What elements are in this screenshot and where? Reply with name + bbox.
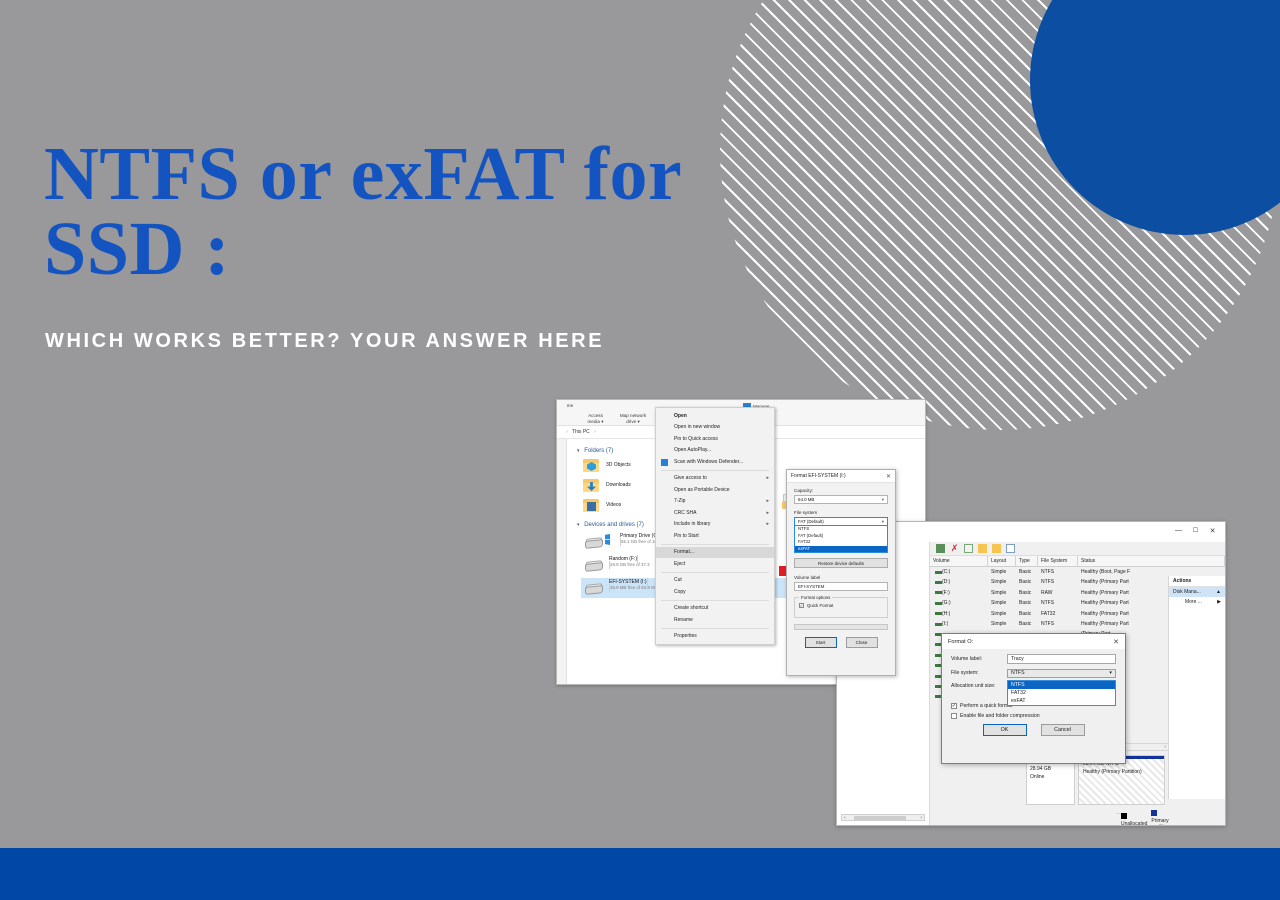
cell-type: Basic (1016, 609, 1038, 619)
column-type[interactable]: Type (1016, 556, 1038, 567)
menu-item-scan-with-windows-defender[interactable]: Scan with Windows Defender... (656, 456, 774, 468)
cell-file-system: NTFS (1038, 619, 1078, 629)
volume-table-header: Volume Layout Type File System Status (930, 556, 1225, 567)
filesystem-label: File system (794, 510, 888, 515)
folder-videos-icon (583, 498, 600, 512)
cancel-button[interactable]: Cancel (1041, 724, 1085, 736)
format-efi-dialog[interactable]: Format EFI-SYSTEM (I:) ✕ Capacity: 64.0 … (786, 469, 896, 676)
chevron-right-icon-2: › (594, 429, 596, 435)
menu-item-pin-to-start[interactable]: Pin to Start (656, 530, 774, 542)
menu-label: Open as Portable Device (674, 487, 730, 493)
context-menu[interactable]: Open Open in new window Pin to Quick acc… (655, 407, 775, 645)
option-fat32[interactable]: FAT32 (1008, 689, 1115, 697)
delete-icon[interactable]: ✗ (950, 544, 959, 553)
filesystem-value: NTFS (1011, 670, 1025, 676)
cell-layout: Simple (988, 609, 1016, 619)
menu-label: Pin to Quick access (674, 436, 718, 442)
menu-item-open-in-new-window[interactable]: Open in new window (656, 422, 774, 434)
cell-volume: (C:) (930, 567, 988, 577)
cell-volume-label: (C:) (942, 567, 950, 577)
quick-format-checkbox[interactable]: ✓ Quick Format (799, 603, 883, 608)
disk-legend: Unallocated Primary partition (1116, 813, 1126, 825)
column-status[interactable]: Status (1078, 556, 1225, 567)
menu-label: Include in library (674, 521, 710, 527)
breadcrumb[interactable]: This PC (572, 429, 590, 435)
menu-label: Create shortcut (674, 605, 708, 611)
legend-item-unallocated: Unallocated (1121, 813, 1147, 827)
cell-layout: Simple (988, 598, 1016, 608)
ribbon-label-2: Map network drive ▾ (620, 413, 646, 424)
compression-label: Enable file and folder compression (960, 713, 1040, 719)
disk-size: 28.94 GB (1030, 766, 1071, 773)
ok-button[interactable]: OK (983, 724, 1027, 736)
cell-file-system: NTFS (1038, 598, 1078, 608)
volume-label-input[interactable]: Tracy (1007, 654, 1116, 664)
decorative-circle (1030, 0, 1280, 235)
folder-3d-objects-icon (583, 458, 600, 472)
legend-key-primary (1151, 810, 1157, 816)
format-o-dialog[interactable]: Format O: ✕ Volume label: Tracy File sys… (941, 633, 1126, 764)
chevron-right-icon: ▸ (766, 521, 769, 527)
devices-header-label: Devices and drives (7) (584, 522, 644, 528)
drive-i-icon (583, 582, 605, 597)
checkbox-icon-unchecked (951, 713, 957, 719)
cell-file-system: NTFS (1038, 577, 1078, 587)
menu-separator (661, 628, 769, 629)
filesystem-label: File system: (951, 670, 1007, 676)
volume-label-label: Volume label: (951, 656, 1007, 662)
menu-item-7-zip[interactable]: 7-Zip ▸ (656, 496, 774, 508)
folder-label: 3D Objects (606, 462, 631, 468)
chevron-right-icon: ▸ (766, 498, 769, 504)
cell-layout: Simple (988, 567, 1016, 577)
menu-label: Rename (674, 617, 693, 623)
filesystem-value: FAT (Default) (798, 519, 824, 524)
dialog-title: Format EFI-SYSTEM (I:) (791, 473, 846, 479)
filesystem-select[interactable]: FAT (Default) ▾ (794, 517, 888, 526)
menu-item-properties[interactable]: Properties (656, 631, 774, 643)
cell-type: Basic (1016, 567, 1038, 577)
defender-icon (661, 459, 668, 466)
drive-c-icon (583, 536, 605, 551)
cell-file-system: FAT32 (1038, 609, 1078, 619)
option-ntfs[interactable]: NTFS (1008, 681, 1115, 689)
menu-label: Properties (674, 633, 697, 639)
menu-item-create-shortcut[interactable]: Create shortcut (656, 603, 774, 615)
menu-label: Format... (674, 549, 694, 555)
format-options-label: Format options (799, 595, 832, 600)
close-icon[interactable]: ✕ (1113, 638, 1119, 646)
capacity-label: Capacity: (794, 488, 888, 493)
allocation-label: Allocation unit size: (951, 683, 1007, 689)
filesystem-options-list[interactable]: NTFS FAT (Default) FAT32 exFAT (794, 526, 888, 553)
legend-key-unallocated (1121, 813, 1127, 819)
volume-bar-icon (935, 623, 942, 626)
drive-free-space: 28.9 GB free of 37.3 (610, 562, 650, 567)
dialog-title: Format O: (948, 639, 973, 645)
ribbon-item-access-media[interactable]: Access media ▾ (579, 403, 612, 424)
menu-label: Copy (674, 589, 686, 595)
volume-bar-icon (935, 591, 942, 594)
cell-volume-label: (I:) (942, 619, 948, 629)
menu-label: Open in new window (674, 424, 720, 430)
legend-label-unallocated: Unallocated (1121, 821, 1147, 827)
menu-item-format[interactable]: Format... (656, 547, 774, 559)
media-icon (591, 403, 601, 412)
option-exfat[interactable]: exFAT (795, 546, 887, 553)
menu-label: Open (674, 413, 687, 419)
action-label: Disk Mana... (1173, 589, 1201, 595)
ribbon-item-0[interactable]: me (560, 403, 580, 409)
cell-type: Basic (1016, 588, 1038, 598)
capacity-value: 64.0 MB (798, 497, 814, 502)
menu-item-give-access-to[interactable]: Give access to ▸ (656, 473, 774, 485)
menu-item-eject[interactable]: Eject (656, 558, 774, 570)
volume-bar-icon (935, 602, 942, 605)
menu-item-rename[interactable]: Rename (656, 614, 774, 626)
cell-layout: Simple (988, 588, 1016, 598)
legend-label-primary: Primary partition (1151, 818, 1169, 827)
properties-icon[interactable] (964, 544, 973, 553)
scroll-right-icon[interactable]: › (920, 815, 922, 821)
checkbox-icon: ✓ (951, 703, 957, 709)
chevron-down-icon: ▾ (1109, 670, 1112, 676)
column-volume[interactable]: Volume (930, 556, 988, 567)
cell-type: Basic (1016, 577, 1038, 587)
menu-item-open-autoplay[interactable]: Open AutoPlay... (656, 445, 774, 457)
volume-bar-icon (935, 612, 942, 615)
windows-logo-icon (605, 534, 616, 545)
cell-file-system: RAW (1038, 588, 1078, 598)
compression-checkbox[interactable]: Enable file and folder compression (951, 713, 1116, 719)
ribbon-label-1: Access media ▾ (587, 413, 603, 424)
actions-header: Actions (1169, 576, 1225, 587)
menu-item-copy[interactable]: Copy (656, 586, 774, 598)
close-button[interactable]: ✕ (1204, 524, 1221, 537)
format-options-group: Format options ✓ Quick Format (794, 597, 888, 618)
menu-item-open[interactable]: Open (656, 410, 774, 422)
capacity-select[interactable]: 64.0 MB ▾ (794, 495, 888, 504)
red-marker (779, 566, 786, 576)
action-item-more[interactable]: More ... ▶ (1169, 597, 1225, 607)
filesystem-options-list[interactable]: NTFS FAT32 exFAT (1007, 680, 1116, 706)
filesystem-select[interactable]: NTFS ▾ (1007, 669, 1116, 679)
menu-item-pin-to-quick-access[interactable]: Pin to Quick access (656, 433, 774, 445)
volume-label-label: Volume label (794, 575, 888, 580)
folder-label: Downloads (606, 482, 631, 488)
cell-volume: (G:) (930, 598, 988, 608)
option-ntfs[interactable]: NTFS (795, 526, 887, 533)
chevron-right-icon: ▸ (766, 510, 769, 516)
volume-bar-icon (935, 581, 942, 584)
scroll-right-icon-2[interactable]: › (1164, 744, 1166, 750)
drive-free-space: 45.9 MB free of 63.8 MB (610, 585, 658, 590)
folder-downloads-icon (583, 478, 600, 492)
scrollbar-thumb[interactable] (854, 816, 906, 821)
menu-separator (661, 600, 769, 601)
menu-label: CRC SHA (674, 510, 697, 516)
volume-label-row: Volume label: Tracy (951, 654, 1116, 664)
menu-label: Eject (674, 561, 685, 567)
horizontal-scrollbar[interactable]: ‹ › (841, 814, 925, 821)
menu-label: Pin to Start (674, 533, 699, 539)
cell-layout: Simple (988, 619, 1016, 629)
action-item-disk-management[interactable]: Disk Mana... ▲ (1169, 587, 1225, 597)
menu-separator (661, 470, 769, 471)
new-volume-icon[interactable] (978, 544, 987, 553)
maximize-button[interactable]: ☐ (1187, 524, 1204, 537)
menu-label: Cut (674, 577, 682, 583)
chevron-down-icon-2: ▾ (577, 522, 580, 528)
disk-state: Online (1030, 774, 1071, 781)
chevron-right-icon: ▸ (766, 475, 769, 481)
cell-volume-label: (H:) (942, 609, 950, 619)
cell-type: Basic (1016, 598, 1038, 608)
disk-management-toolbar[interactable]: ✗ (930, 542, 1225, 556)
legend-item-primary-partition: Primary partition (1151, 810, 1169, 827)
cell-volume: (I:) (930, 619, 988, 629)
partition-status: Healthy (Primary Partition) (1083, 769, 1160, 777)
title-line-2: SSD : (44, 212, 874, 287)
volume-label-input[interactable]: EFI-SYSTEM (794, 582, 888, 591)
drive-f-icon (583, 559, 605, 574)
back-icon[interactable] (936, 544, 945, 553)
volume-bar-icon (935, 571, 942, 574)
menu-item-cut[interactable]: Cut (656, 575, 774, 587)
folders-header-label: Folders (7) (584, 448, 613, 454)
menu-label: Give access to (674, 475, 707, 481)
cell-volume: (H:) (930, 609, 988, 619)
chevron-right-icon: › (566, 429, 568, 435)
menu-label: 7-Zip (674, 498, 685, 504)
scroll-left-icon[interactable]: ‹ (844, 815, 846, 821)
cell-volume-label: (D:) (942, 577, 950, 587)
network-drive-icon (628, 403, 638, 412)
chevron-down-icon: ▾ (882, 497, 884, 503)
dialog-title-bar: Format O: ✕ (942, 634, 1125, 649)
cell-volume-label: (G:) (942, 598, 951, 608)
column-layout[interactable]: Layout (988, 556, 1016, 567)
folder-label: Videos (606, 502, 621, 508)
menu-label: Scan with Windows Defender... (674, 459, 743, 465)
actions-pane[interactable]: Actions Disk Mana... ▲ More ... ▶ (1168, 576, 1225, 799)
cell-type: Basic (1016, 619, 1038, 629)
chevron-down-icon: ▾ (882, 519, 884, 525)
collapse-arrow-icon[interactable]: ▲ (1216, 589, 1221, 595)
bottom-accent-bar (0, 848, 1280, 900)
menu-separator (661, 572, 769, 573)
title-line-1: NTFS or exFAT for (44, 132, 682, 216)
close-button[interactable]: Close (846, 637, 878, 648)
start-button[interactable]: Start (805, 637, 837, 648)
close-icon[interactable]: ✕ (886, 473, 891, 480)
action-label: More ... (1185, 599, 1202, 605)
menu-item-crc-sha[interactable]: CRC SHA ▸ (656, 507, 774, 519)
ribbon-item-map-network-drive[interactable]: Map network drive ▾ (613, 403, 653, 424)
page-subtitle: WHICH WORKS BETTER? YOUR ANSWER HERE (45, 330, 604, 353)
page-title: NTFS or exFAT for SSD : (44, 137, 874, 287)
cell-volume: (F:) (930, 588, 988, 598)
menu-separator (661, 544, 769, 545)
restore-device-defaults-button[interactable]: Restore device defaults (794, 558, 888, 568)
menu-item-open-as-portable-device[interactable]: Open as Portable Device (656, 484, 774, 496)
cell-layout: Simple (988, 577, 1016, 587)
column-file-system[interactable]: File System (1038, 556, 1078, 567)
minimize-button[interactable]: — (1170, 524, 1187, 537)
progress-bar (794, 624, 888, 630)
chevron-down-icon: ▾ (577, 448, 580, 454)
expand-arrow-icon[interactable]: ▶ (1217, 599, 1221, 605)
filesystem-row: File system: NTFS ▾ (951, 669, 1116, 679)
option-exfat[interactable]: exFAT (1008, 697, 1115, 705)
rescan-icon[interactable] (992, 544, 1001, 553)
cell-volume-label: (F:) (942, 588, 950, 598)
menu-label: Open AutoPlay... (674, 447, 711, 453)
ribbon-label-0: me (567, 403, 573, 408)
menu-item-include-in-library[interactable]: Include in library ▸ (656, 519, 774, 531)
cell-volume: (D:) (930, 577, 988, 587)
checkbox-icon: ✓ (799, 603, 804, 608)
navigation-pane[interactable] (557, 439, 567, 685)
quick-format-label: Perform a quick format (960, 703, 1012, 709)
option-fat32[interactable]: FAT32 (795, 539, 887, 546)
help-icon[interactable] (1006, 544, 1015, 553)
dialog-title-bar: Format EFI-SYSTEM (I:) ✕ (787, 470, 895, 483)
quick-format-label: Quick Format (807, 603, 833, 608)
option-fat-default[interactable]: FAT (Default) (795, 533, 887, 540)
cell-file-system: NTFS (1038, 567, 1078, 577)
